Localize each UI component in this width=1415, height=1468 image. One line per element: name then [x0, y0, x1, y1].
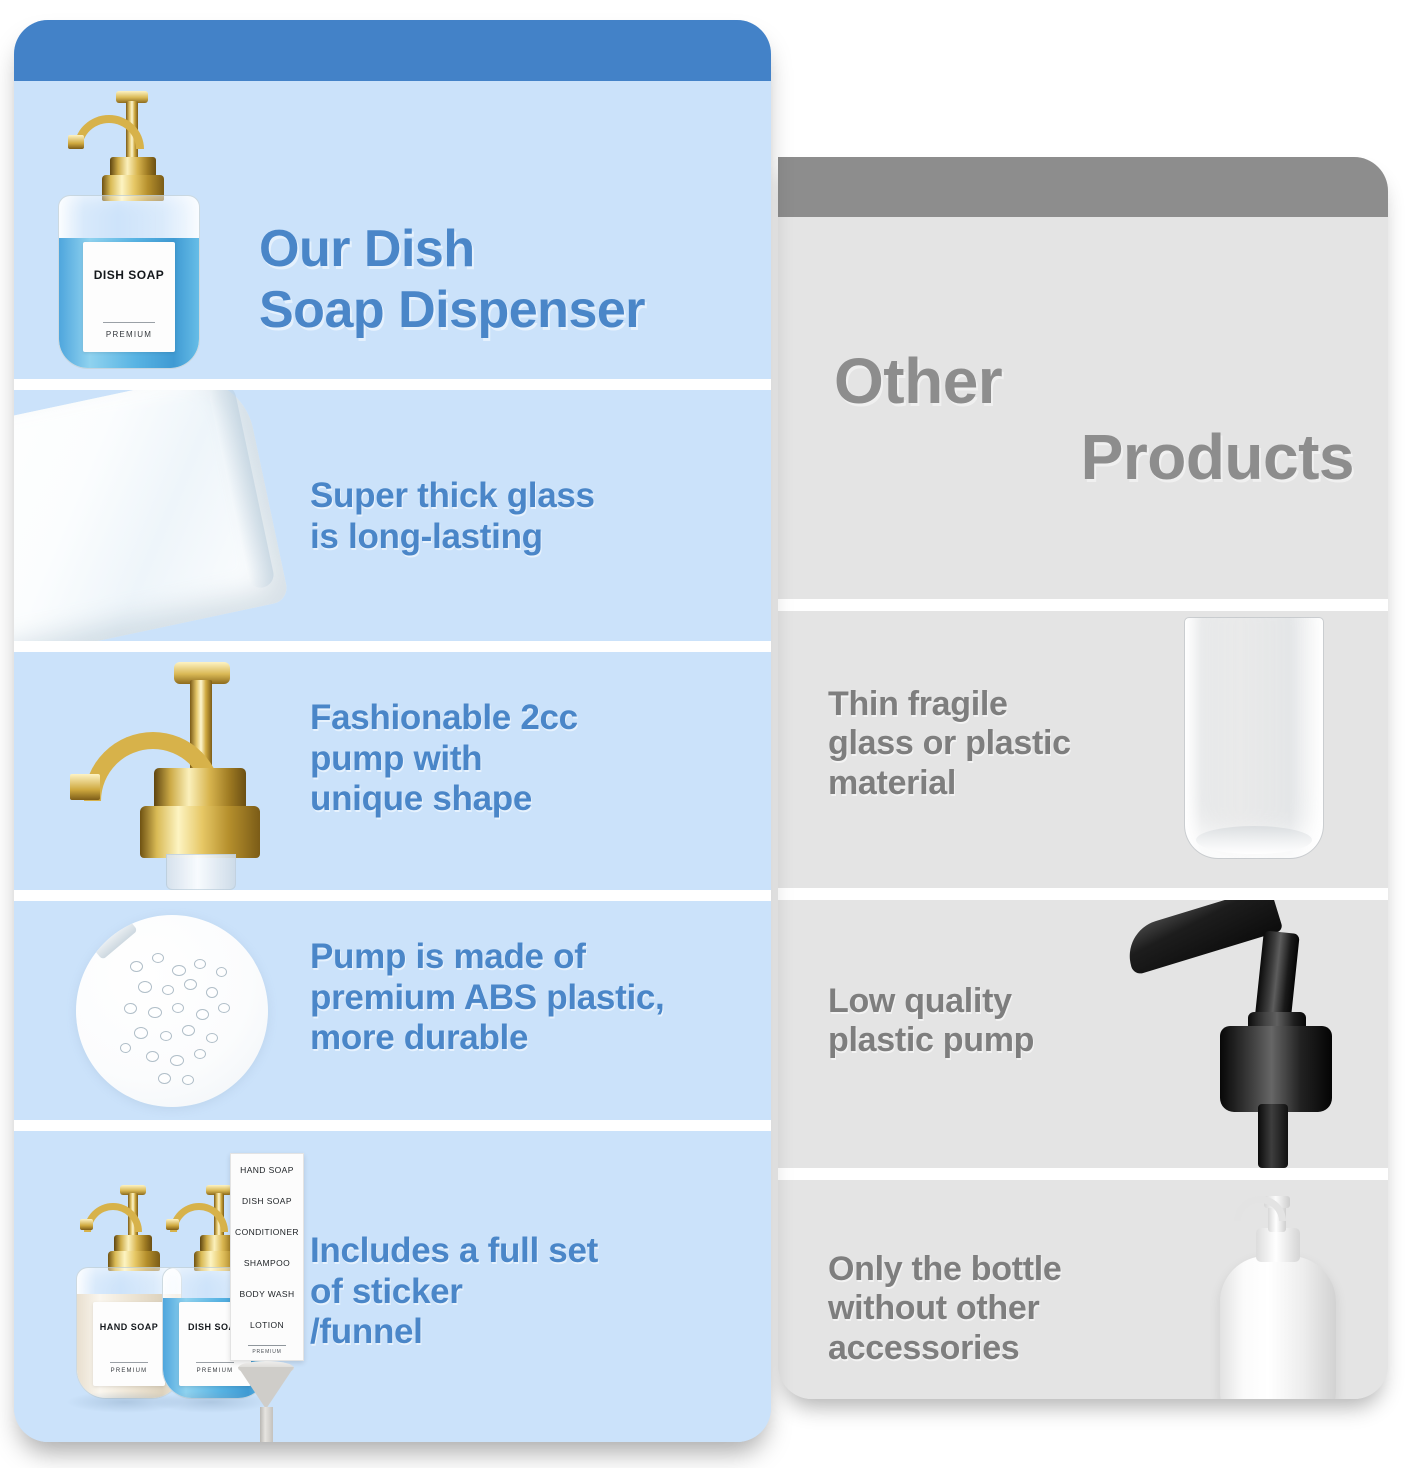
drawback-row-bottle-only: Only the bottle without other accessorie…	[778, 1180, 1388, 1399]
feature-row-sticker-funnel: HAND SOAP PREMIUM DISH SOAP	[14, 1131, 771, 1442]
sticker-footer: PREMIUM	[252, 1346, 281, 1360]
drawback-text-2: Only the bottle without other accessorie…	[828, 1250, 1208, 1368]
feature-row-abs-plastic: Pump is made of premium ABS plastic, mor…	[14, 901, 771, 1120]
drawback-row-plastic-pump: Low quality plastic pump	[778, 900, 1388, 1168]
drawback-row-thin-glass: Thin fragile glass or plastic material	[778, 611, 1388, 888]
kit-bottle-0-label-sub: PREMIUM	[111, 1368, 148, 1374]
feature-text-1: Fashionable 2cc pump with unique shape	[310, 698, 730, 820]
kit-bottle-1-label-sub: PREMIUM	[197, 1368, 234, 1374]
thick-glass-closeup-icon	[14, 390, 289, 641]
gold-pump-closeup-icon	[62, 656, 302, 888]
hero-row: Our Dish Soap Dispenser DISH SOAP PREMIU…	[14, 81, 771, 379]
sticker-item-5: LOTION	[231, 1310, 303, 1341]
feature-text-2: Pump is made of premium ABS plastic, mor…	[310, 937, 750, 1059]
right-divider-2	[778, 888, 1388, 900]
sticker-sheet: HAND SOAP DISH SOAP CONDITIONER SHAMPOO …	[230, 1153, 304, 1361]
abs-pellets-closeup-icon	[76, 915, 268, 1107]
sticker-item-1: DISH SOAP	[231, 1185, 303, 1216]
left-divider-2	[14, 641, 771, 652]
hero-dish-soap-dispenser: DISH SOAP PREMIUM	[38, 91, 218, 369]
hero-bottle-label-title: DISH SOAP	[94, 268, 165, 282]
right-divider-1	[778, 599, 1388, 611]
sticker-item-3: SHAMPOO	[231, 1248, 303, 1279]
our-product-panel: Our Dish Soap Dispenser DISH SOAP PREMIU…	[14, 20, 771, 1442]
other-title-line2: Products	[834, 420, 1354, 496]
plain-white-bottle-icon	[1198, 1184, 1368, 1399]
drawback-text-0: Thin fragile glass or plastic material	[828, 685, 1178, 803]
right-panel-title-row: Other Products	[778, 217, 1388, 599]
funnel-icon	[234, 1361, 304, 1442]
left-divider-4	[14, 1120, 771, 1131]
page-title: Our Dish Soap Dispenser	[259, 219, 769, 342]
left-divider-3	[14, 890, 771, 901]
thin-glass-jar-icon	[1184, 617, 1324, 859]
right-panel-header-bar	[778, 157, 1388, 217]
feature-row-pump-shape: Fashionable 2cc pump with unique shape	[14, 652, 771, 890]
gold-pump-icon	[68, 91, 188, 203]
hero-bottle-label-sub: PREMIUM	[106, 330, 152, 339]
black-plastic-pump-icon	[1108, 900, 1388, 1168]
sticker-item-4: BODY WASH	[231, 1279, 303, 1310]
sticker-item-2: CONDITIONER	[231, 1216, 303, 1247]
feature-text-0: Super thick glass is long-lasting	[310, 476, 730, 557]
other-products-title: Other Products	[834, 344, 1354, 495]
feature-text-3: Includes a full set of sticker /funnel	[310, 1231, 740, 1353]
left-divider-1	[14, 379, 771, 390]
sticker-item-0: HAND SOAP	[231, 1154, 303, 1185]
other-products-panel: Other Products Thin fragile glass or pla…	[778, 157, 1388, 1399]
right-divider-3	[778, 1168, 1388, 1180]
other-title-line1: Other	[834, 345, 1002, 417]
left-panel-header-bar	[14, 20, 771, 81]
feature-row-thick-glass: Super thick glass is long-lasting	[14, 390, 771, 641]
